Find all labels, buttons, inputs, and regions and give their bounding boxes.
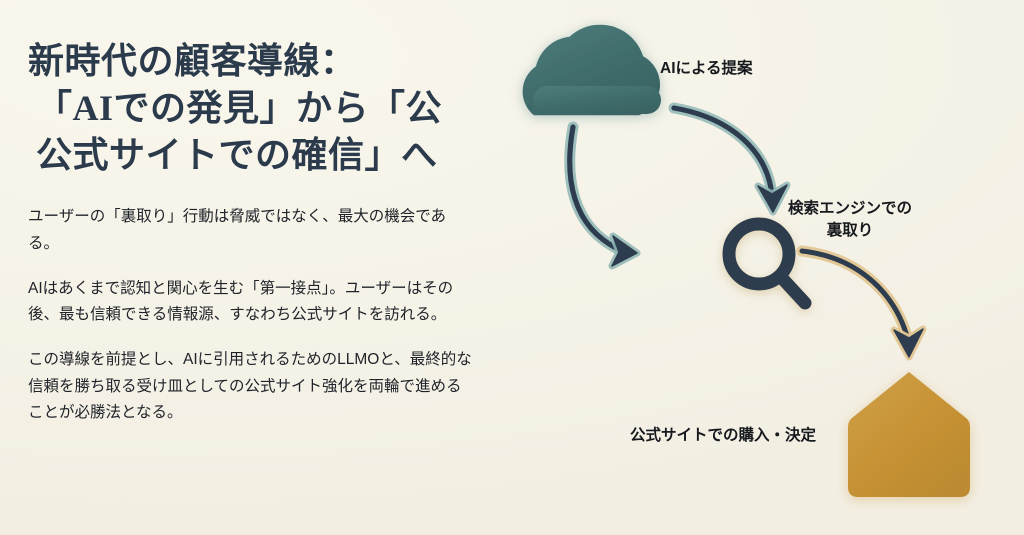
paragraph-2: AIはあくまで認知と関心を生む「第一接点」。ユーザーはその後、最も信頼できる情報…: [28, 276, 474, 329]
slide: 新時代の顧客導線： 「AIでの発見」から「公 公式サイトでの確信」へ ユーザーの…: [0, 0, 1024, 535]
page-title: 新時代の顧客導線： 「AIでの発見」から「公 公式サイトでの確信」へ: [28, 38, 474, 178]
text-column: 新時代の顧客導線： 「AIでの発見」から「公 公式サイトでの確信」へ ユーザーの…: [0, 0, 500, 535]
body-copy: ユーザーの「裏取り」行動は脅威ではなく、最大の機会である。 AIはあくまで認知と…: [28, 204, 474, 427]
arrow-cloud-to-magnifier-left: [570, 127, 637, 266]
label-search-line-1: 検索エンジンでの: [788, 200, 912, 217]
arrow-magnifier-to-house: [802, 251, 923, 357]
title-line-1: 新時代の顧客導線：: [28, 38, 474, 85]
diagram-canvas: [500, 0, 1024, 535]
arrow-ai-to-magnifier: [674, 108, 787, 212]
title-line-2: 「AIでの発見」から「公: [28, 85, 474, 132]
label-ai-suggestion: AIによる提案: [660, 58, 753, 80]
paragraph-3: この導線を前提とし、AIに引用されるためのLLMOと、最終的な信頼を勝ち取る受け…: [28, 347, 474, 427]
flow-diagram: AIによる提案 検索エンジンでの 裏取り 公式サイトでの購入・決定: [500, 0, 1024, 535]
label-search-line-2: 裏取り: [827, 222, 874, 239]
home-icon: [848, 372, 970, 497]
paragraph-1: ユーザーの「裏取り」行動は脅威ではなく、最大の機会である。: [28, 204, 474, 257]
cloud-icon: [523, 25, 661, 116]
label-official-site: 公式サイトでの購入・決定: [630, 425, 816, 447]
title-line-3: 公式サイトでの確信」へ: [28, 132, 474, 179]
label-search-verification: 検索エンジンでの 裏取り: [788, 198, 912, 241]
